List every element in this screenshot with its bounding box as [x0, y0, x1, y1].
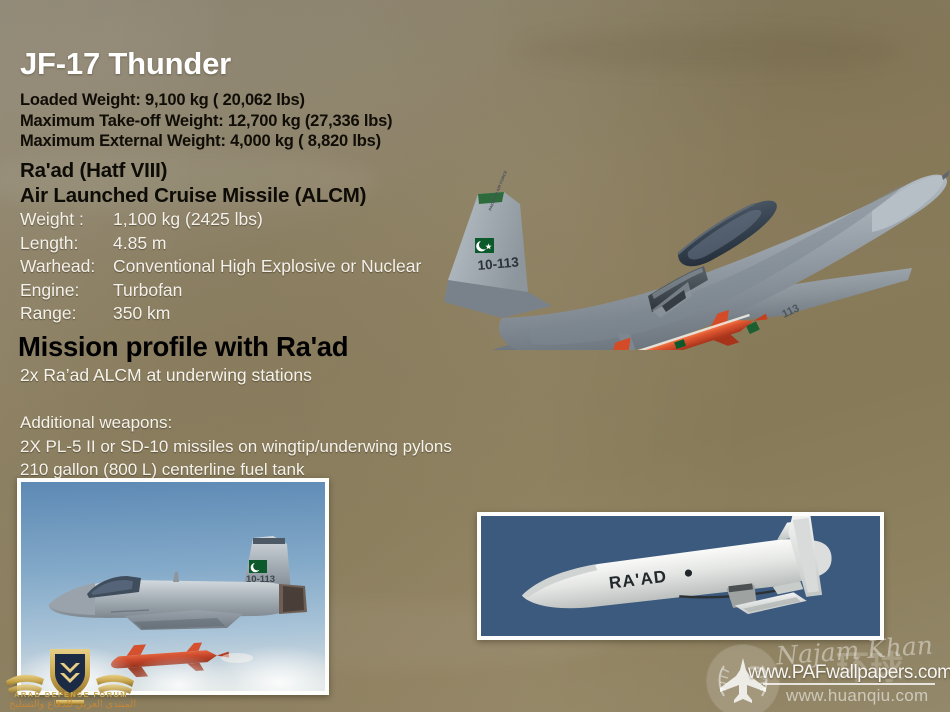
missile-title-block: Ra'ad (Hatf VIII) Air Launched Cruise Mi… [20, 158, 366, 208]
raad-missile-illustration: RA'AD [481, 516, 880, 636]
spec-row: Warhead: Conventional High Explosive or … [20, 255, 421, 279]
missile-spec-table: Weight : 1,100 kg (2425 lbs) Length: 4.8… [20, 208, 421, 326]
weight-spec-list: Loaded Weight: 9,100 kg ( 20,062 lbs) Ma… [20, 90, 392, 152]
poster-canvas: 10-113 PAKISTAN AIR FORCE 113 [0, 0, 950, 712]
site-watermark[interactable]: www.PAFwallpapers.com [748, 662, 950, 684]
weight-spec-line: Maximum External Weight: 4,000 kg ( 8,82… [20, 131, 392, 152]
spec-value: Turbofan [113, 279, 182, 303]
spec-label: Length: [20, 232, 113, 256]
spec-label: Warhead: [20, 255, 113, 279]
spec-value: Conventional High Explosive or Nuclear [113, 255, 421, 279]
mission-subtitle: 2x Ra’ad ALCM at underwing stations [20, 365, 312, 386]
partner-site-watermark[interactable]: www.huanqiu.com [786, 686, 928, 706]
missile-name: Ra'ad (Hatf VIII) [20, 158, 366, 183]
missile-type: Air Launched Cruise Missile (ALCM) [20, 183, 366, 208]
spec-label: Engine: [20, 279, 113, 303]
photo-inset-jet-release: 10-113 [17, 478, 329, 695]
spec-row: Weight : 1,100 kg (2425 lbs) [20, 208, 421, 232]
forum-name-arabic: المنتدى العربي للدفاع والتسليح [9, 699, 136, 710]
forum-name-english: ARAB DEFENSE FORUM [14, 690, 128, 699]
spec-value: 1,100 kg (2425 lbs) [113, 208, 263, 232]
spec-row: Length: 4.85 m [20, 232, 421, 256]
spec-row: Engine: Turbofan [20, 279, 421, 303]
additional-weapons-item: 2X PL-5 II or SD-10 missiles on wingtip/… [20, 435, 452, 459]
weight-spec-line: Loaded Weight: 9,100 kg ( 20,062 lbs) [20, 90, 392, 111]
watermark-divider [763, 683, 935, 685]
weight-spec-line: Maximum Take-off Weight: 12,700 kg (27,3… [20, 111, 392, 132]
additional-weapons-block: Additional weapons: 2X PL-5 II or SD-10 … [20, 411, 452, 482]
spec-value: 4.85 m [113, 232, 167, 256]
missile-inset-raad: RA'AD [477, 512, 884, 640]
spec-label: Range: [20, 302, 113, 326]
spec-label: Weight : [20, 208, 113, 232]
spec-row: Range: 350 km [20, 302, 421, 326]
page-title: JF-17 Thunder [20, 46, 231, 82]
cloud-layer [21, 620, 325, 691]
additional-weapons-label: Additional weapons: [20, 411, 452, 435]
mission-heading: Mission profile with Ra'ad [18, 331, 348, 363]
spec-value: 350 km [113, 302, 170, 326]
